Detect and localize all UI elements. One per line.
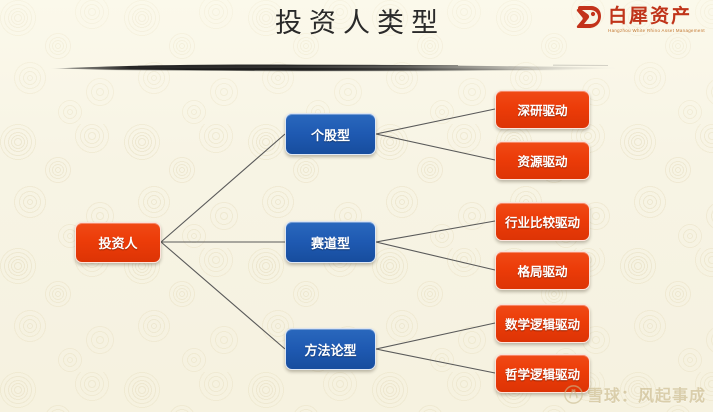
node-leaf-deep-research-driven[interactable]: 深研驱动 (495, 90, 590, 129)
node-label: 资源驱动 (517, 151, 567, 170)
investor-type-diagram: 投资人 个股型 赛道型 方法论型 深研驱动 资源驱动 行业比较驱动 格局驱动 数… (0, 0, 713, 412)
node-label: 格局驱动 (517, 261, 567, 280)
node-label: 投资人 (98, 233, 137, 252)
node-root-investor[interactable]: 投资人 (75, 222, 161, 263)
slide-canvas: 投资人类型 (0, 0, 713, 412)
node-label: 哲学逻辑驱动 (505, 364, 580, 383)
node-branch-methodology[interactable]: 方法论型 (285, 328, 376, 370)
node-leaf-industry-comparison-driven[interactable]: 行业比较驱动 (495, 202, 590, 241)
node-label: 深研驱动 (517, 100, 567, 119)
node-branch-track[interactable]: 赛道型 (285, 221, 376, 263)
node-label: 方法论型 (304, 340, 356, 359)
node-branch-individual-stock[interactable]: 个股型 (285, 113, 376, 155)
node-leaf-philosophical-logic-driven[interactable]: 哲学逻辑驱动 (495, 354, 590, 393)
node-leaf-mathematical-logic-driven[interactable]: 数学逻辑驱动 (495, 304, 590, 343)
node-leaf-resource-driven[interactable]: 资源驱动 (495, 141, 590, 180)
node-leaf-landscape-driven[interactable]: 格局驱动 (495, 251, 590, 290)
node-label: 数学逻辑驱动 (505, 314, 580, 333)
node-label: 个股型 (311, 125, 350, 144)
node-label: 行业比较驱动 (505, 212, 580, 231)
node-label: 赛道型 (311, 233, 350, 252)
